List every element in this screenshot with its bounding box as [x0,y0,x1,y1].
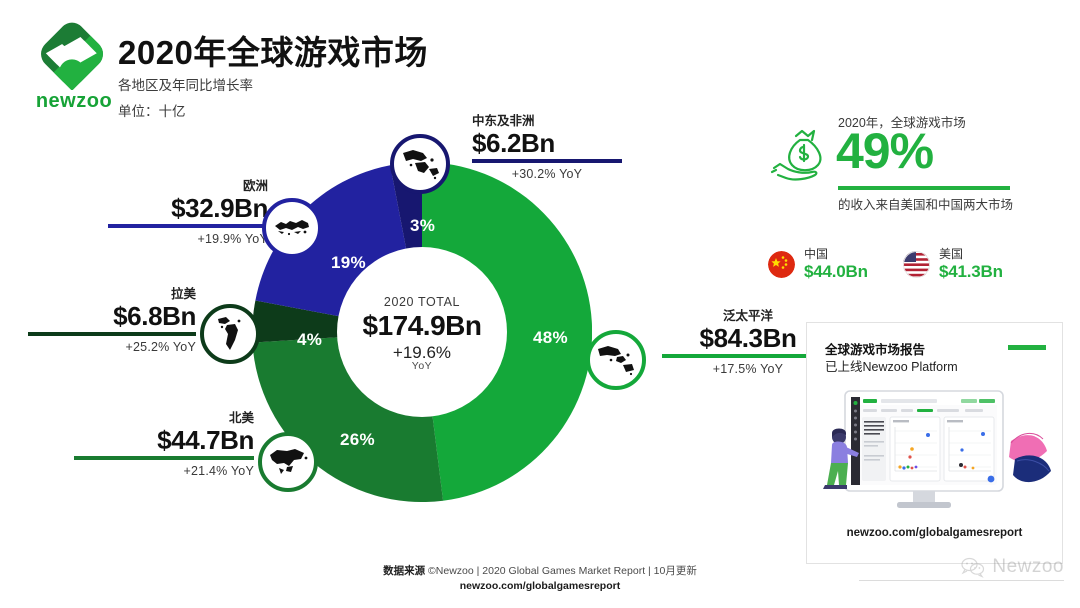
card-accent-rule [1008,345,1046,350]
center-total-yoy-unit: YoY [352,361,492,372]
panel-percent: 49% [836,126,933,176]
country-china: 中国 $44.0Bn [768,248,868,281]
callout-mea-region: 中东及非洲 [472,115,622,129]
callout-europe-rule [108,224,268,228]
callout-mea: 中东及非洲 $6.2Bn +30.2% YoY [472,115,622,181]
country-usa-text: 美国 $41.3Bn [939,248,1003,281]
europe-map-icon [262,198,322,258]
mea-map-icon [390,134,450,194]
callout-mea-value: $6.2Bn [472,129,622,158]
card-url[interactable]: newzoo.com/globalgamesreport [807,527,1062,539]
slice-pct-apac: 48% [533,328,568,348]
country-usa-value: $41.3Bn [939,262,1003,282]
apac-map-icon [586,330,646,390]
latam-map-icon [200,304,260,364]
country-china-text: 中国 $44.0Bn [804,248,868,281]
card-subtitle: 已上线Newzoo Platform [825,356,958,375]
callout-europe-value: $32.9Bn [108,194,268,223]
country-china-name: 中国 [804,248,868,262]
donut-center-label: 2020 TOTAL $174.9Bn +19.6% YoY [352,296,492,372]
page-subtitle: 各地区及年同比增长率 [118,74,253,94]
usa-flag-icon [903,251,930,278]
callout-latam-rule [28,332,196,336]
callout-latam-region: 拉美 [28,288,196,302]
callout-north-america-region: 北美 [74,412,254,426]
wechat-icon [960,556,986,578]
footer-source-prefix: 数据来源 [383,565,425,577]
china-flag-icon [768,251,795,278]
callout-north-america-rule [74,456,254,460]
footer-url[interactable]: newzoo.com/globalgamesreport [0,580,1080,592]
newzoo-diamond-logo-icon [36,18,108,90]
callout-europe-region: 欧洲 [108,180,268,194]
watermark-text: Newzoo [992,556,1064,578]
footer-source: 数据来源 ©Newzoo | 2020 Global Games Market … [0,563,1080,578]
country-usa-name: 美国 [939,248,1003,262]
northamerica-map-icon [258,432,318,492]
panel-rule [838,186,1010,190]
footer-source-text: ©Newzoo | 2020 Global Games Market Repor… [428,565,697,577]
center-total-yoy: +19.6% [352,344,492,362]
slice-pct-europe: 19% [331,253,366,273]
center-total-caption: 2020 TOTAL [352,296,492,309]
newzoo-logo: newzoo [22,18,126,116]
callout-mea-rule [472,159,622,163]
footer-divider [859,580,1064,581]
units-label: 单位：十亿 [118,100,186,120]
wechat-watermark: Newzoo [960,556,1064,578]
report-promo-card[interactable]: 全球游戏市场报告 已上线Newzoo Platform [806,322,1063,564]
callout-mea-yoy: +30.2% YoY [472,167,622,181]
callout-latam: 拉美 $6.8Bn +25.2% YoY [28,288,196,354]
country-china-value: $44.0Bn [804,262,868,282]
slice-pct-latam: 4% [297,330,322,350]
callout-north-america: 北美 $44.7Bn +21.4% YoY [74,412,254,478]
callout-north-america-value: $44.7Bn [74,426,254,455]
infographic-canvas: newzoo 2020年全球游戏市场 各地区及年同比增长率 单位：十亿 48% … [0,0,1080,608]
callout-europe: 欧洲 $32.9Bn +19.9% YoY [108,180,268,246]
country-usa: 美国 $41.3Bn [903,248,1003,281]
center-total-value: $174.9Bn [352,311,492,340]
callout-latam-value: $6.8Bn [28,302,196,331]
callout-north-america-yoy: +21.4% YoY [74,464,254,478]
slice-pct-north-america: 26% [340,430,375,450]
dashboard-monitor-illustration [815,381,1055,516]
money-bag-icon [768,128,832,190]
callout-latam-yoy: +25.2% YoY [28,340,196,354]
newzoo-wordmark: newzoo [22,90,126,113]
callout-europe-yoy: +19.9% YoY [108,232,268,246]
page-title: 2020年全球游戏市场 [118,26,428,74]
slice-pct-mea: 3% [410,216,435,236]
panel-note: 的收入来自美国和中国两大市场 [838,196,1018,214]
